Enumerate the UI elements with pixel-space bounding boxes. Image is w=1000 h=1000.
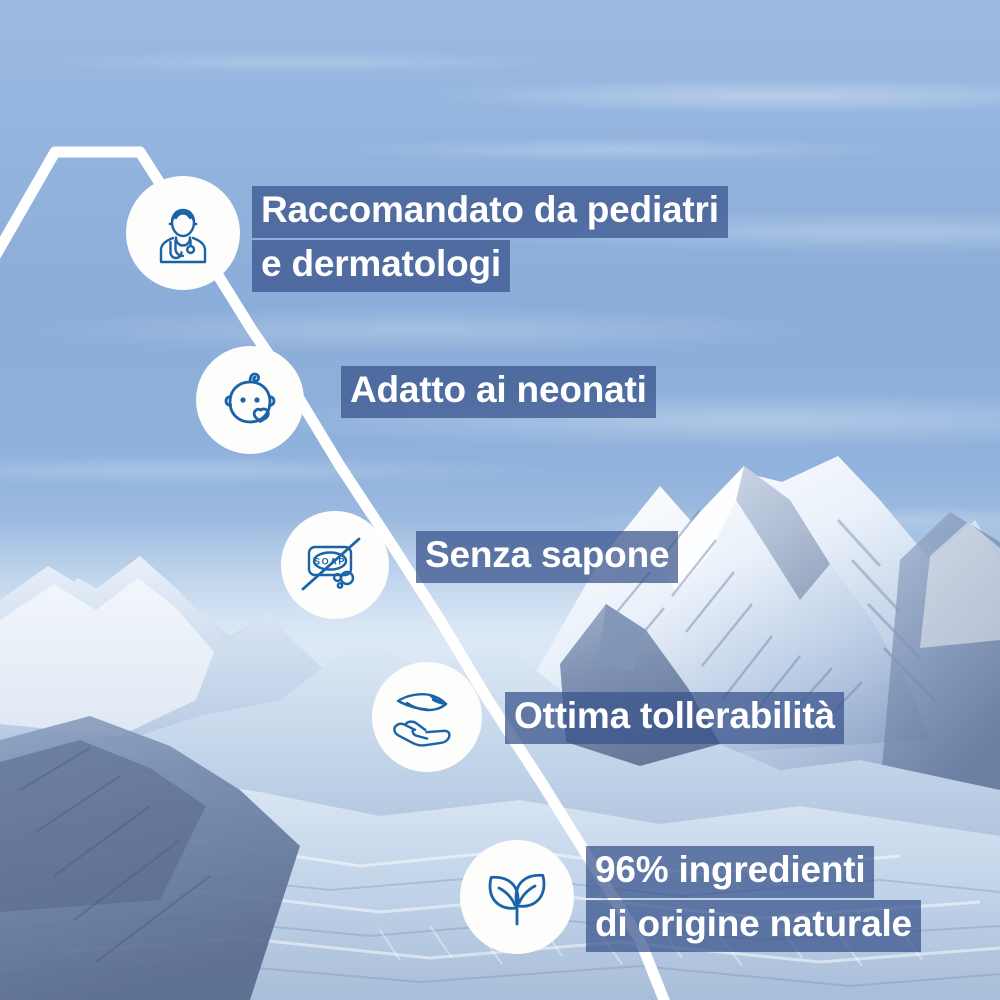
label-line: Raccomandato da pediatri — [252, 186, 728, 238]
feature-label-ottima-tollerabilita: Ottima tollerabilità — [505, 692, 844, 744]
hand-with-leaf-icon — [389, 679, 465, 755]
feature-label-ingredienti-naturali: 96% ingredienti di origine naturale — [586, 846, 921, 952]
baby-face-icon — [214, 364, 286, 436]
feature-bubble-pediatri-dermatologi[interactable] — [126, 176, 240, 290]
label-line: di origine naturale — [586, 900, 921, 952]
feature-bubble-ottima-tollerabilita[interactable] — [372, 662, 482, 772]
label-line: e dermatologi — [252, 240, 510, 292]
feature-bubble-ingredienti-naturali[interactable] — [460, 840, 574, 954]
label-line: Senza sapone — [416, 531, 678, 583]
feature-label-senza-sapone: Senza sapone — [416, 531, 678, 583]
feature-label-adatto-neonati: Adatto ai neonati — [341, 366, 656, 418]
feature-label-pediatri-dermatologi: Raccomandato da pediatri e dermatologi — [252, 186, 728, 292]
label-line: Adatto ai neonati — [341, 366, 656, 418]
feature-bubble-adatto-neonati[interactable] — [196, 346, 304, 454]
label-line: Ottima tollerabilità — [505, 692, 844, 744]
two-leaves-icon — [478, 858, 556, 936]
feature-bubble-senza-sapone[interactable]: SOAP — [281, 511, 389, 619]
label-line: 96% ingredienti — [586, 846, 874, 898]
promo-poster: SOAP Raccomandato da pediatr — [0, 0, 1000, 1000]
no-soap-icon: SOAP — [297, 527, 373, 603]
doctor-icon — [146, 196, 220, 270]
